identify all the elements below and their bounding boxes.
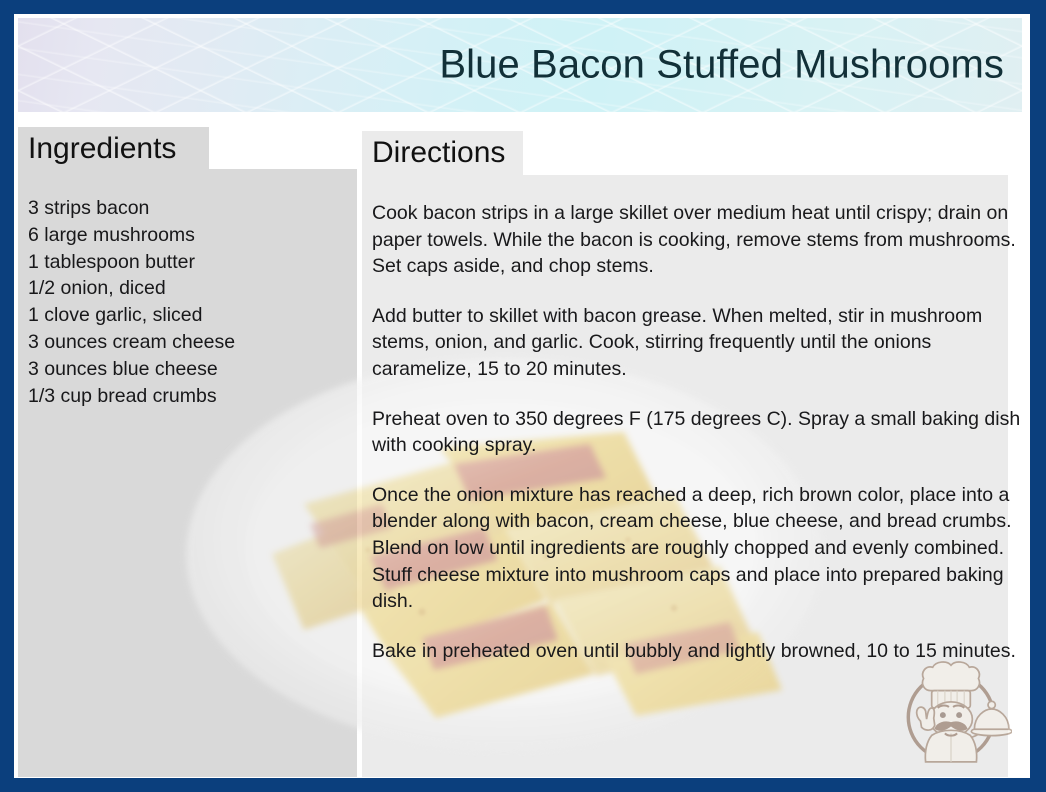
ingredient-item: 1 tablespoon butter [28, 249, 348, 276]
page-surface: Blue Bacon Stuffed Mushrooms [14, 14, 1030, 778]
directions-steps: Cook bacon strips in a large skillet ove… [372, 200, 1022, 664]
ingredient-item: 1 clove garlic, sliced [28, 302, 348, 329]
ingredient-item: 3 ounces cream cheese [28, 329, 348, 356]
ingredient-item: 3 strips bacon [28, 195, 348, 222]
ingredient-item: 1/3 cup bread crumbs [28, 383, 348, 410]
chef-with-cloche-logo [890, 650, 1012, 772]
ingredients-list: 3 strips bacon6 large mushrooms1 tablesp… [28, 195, 348, 409]
page-title: Blue Bacon Stuffed Mushrooms [439, 43, 1004, 88]
direction-step: Once the onion mixture has reached a dee… [372, 482, 1022, 615]
ingredient-item: 3 ounces blue cheese [28, 356, 348, 383]
recipe-card-page: Blue Bacon Stuffed Mushrooms [0, 0, 1046, 792]
directions-heading: Directions [372, 136, 505, 170]
title-banner: Blue Bacon Stuffed Mushrooms [18, 18, 1022, 112]
ingredients-heading: Ingredients [28, 132, 176, 166]
ingredient-item: 1/2 onion, diced [28, 275, 348, 302]
ingredient-item: 6 large mushrooms [28, 222, 348, 249]
border-frame-top [0, 0, 1046, 14]
direction-step: Cook bacon strips in a large skillet ove… [372, 200, 1022, 280]
border-frame-bottom [0, 778, 1046, 792]
direction-step: Add butter to skillet with bacon grease.… [372, 303, 1022, 383]
border-frame-left [0, 0, 14, 792]
direction-step: Preheat oven to 350 degrees F (175 degre… [372, 406, 1022, 459]
border-frame-right [1030, 0, 1046, 792]
